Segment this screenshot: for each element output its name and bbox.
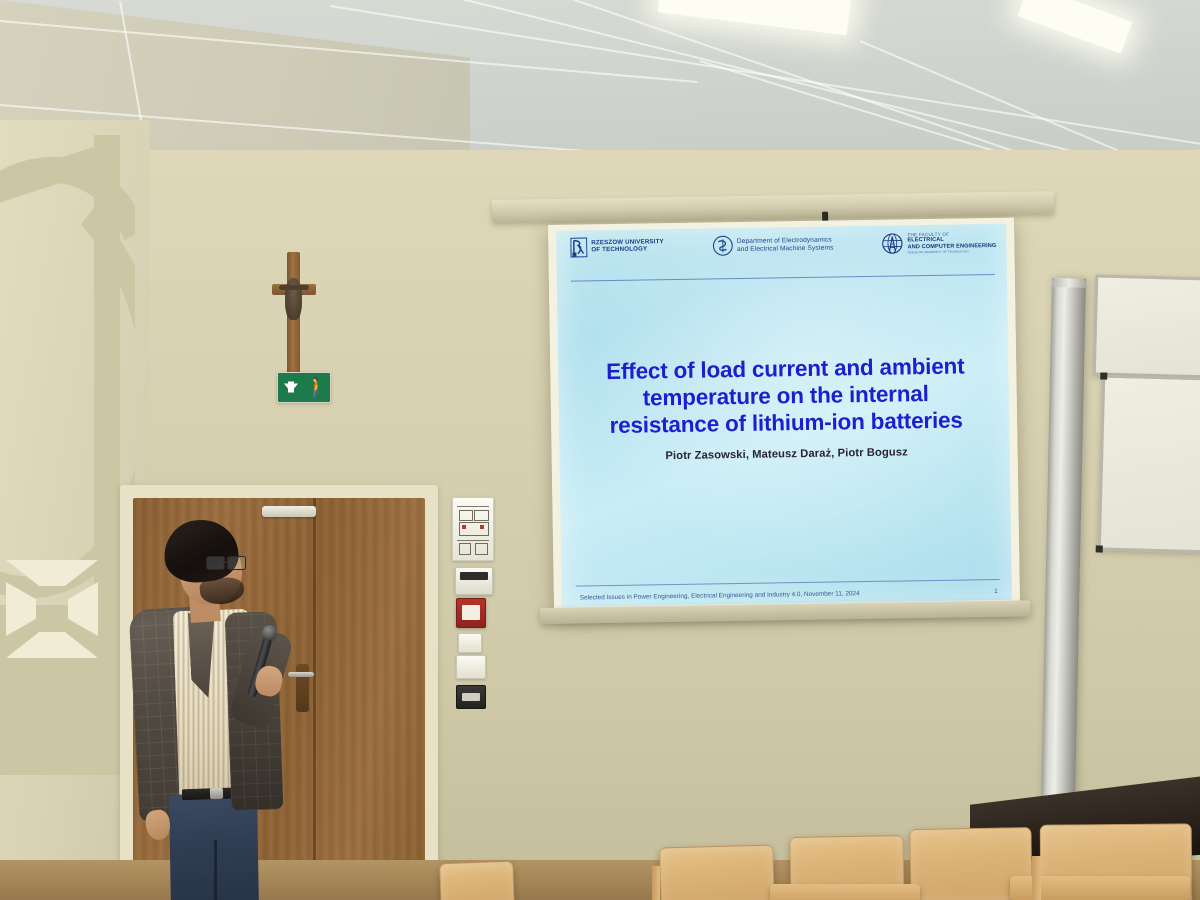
slide-title: Effect of load current and ambient tempe… [584, 352, 987, 439]
eyeglasses [206, 556, 244, 568]
screen-surface: RZESZOW UNIVERSITY OF TECHNOLOGY Departm… [548, 218, 1020, 617]
slide-authors: Piotr Zasowski, Mateusz Daraż, Piotr Bog… [586, 445, 988, 463]
department-logo-line2: and Electrical Machine Systems [737, 244, 834, 253]
lecture-hall-photo: 🚶 [0, 0, 1200, 900]
department-logo-text: Department of Electrodynamics and Electr… [737, 237, 834, 253]
slide-title-line-3: resistance of lithium-ion batteries [585, 406, 987, 439]
whiteboard-upper [1093, 274, 1200, 378]
card-reader-panel[interactable] [456, 685, 486, 709]
exit-runner-panel: 🚶 [304, 373, 330, 402]
fire-alarm-call-point[interactable] [456, 598, 486, 628]
evacuation-plan-placard [452, 497, 494, 561]
emergency-exit-sign: 🚶 [277, 372, 331, 403]
eyeglass-lens-right [227, 556, 246, 570]
whiteboard-bracket [1100, 372, 1107, 379]
ceiling-panel-light [1018, 0, 1133, 54]
jeans-seam [214, 840, 217, 900]
ceiling-panel-light [658, 0, 852, 35]
intercom-panel[interactable] [456, 655, 486, 679]
exit-arrow-panel [278, 373, 304, 402]
chair-post [652, 866, 660, 900]
down-arrow-icon [284, 383, 298, 392]
slide-number: 1 [994, 588, 998, 595]
cross-arm-bottom [6, 632, 98, 658]
light-switch[interactable] [458, 633, 482, 653]
whiteboard-bracket [1096, 545, 1103, 552]
fire-alarm-button[interactable] [462, 605, 480, 620]
door-closer [262, 506, 316, 517]
maltese-cross-icon [6, 560, 98, 658]
rzeszow-university-logo: RZESZOW UNIVERSITY OF TECHNOLOGY [570, 236, 664, 257]
rzeszow-logo-text: RZESZOW UNIVERSITY OF TECHNOLOGY [591, 239, 664, 254]
card-reader-display [462, 693, 480, 701]
presentation-slide: RZESZOW UNIVERSITY OF TECHNOLOGY Departm… [556, 224, 1012, 607]
slide-footer: Selected Issues in Power Engineering, El… [580, 588, 998, 602]
slide-title-block: Effect of load current and ambient tempe… [584, 352, 988, 463]
faculty-globe-icon [881, 232, 903, 254]
slide-footer-rule [576, 579, 1000, 587]
belt-buckle [210, 788, 223, 799]
rzeszow-logo-line2: OF TECHNOLOGY [591, 246, 664, 254]
faculty-logo-text: THE FACULTY OF ELECTRICAL AND COMPUTER E… [907, 231, 996, 254]
auditorium-chair [659, 845, 775, 900]
cross-arm-top [6, 560, 98, 586]
wall-mural [0, 135, 135, 775]
chair-post [1032, 856, 1041, 900]
slide-footer-text: Selected Issues in Power Engineering, El… [580, 590, 860, 601]
cross-arm-right [68, 582, 98, 636]
faculty-logo: THE FACULTY OF ELECTRICAL AND COMPUTER E… [881, 231, 996, 255]
auditorium-chair [439, 861, 515, 900]
whiteboard-lower [1098, 375, 1200, 554]
department-seal-icon [712, 235, 733, 256]
eyeglass-lens-left [206, 556, 225, 570]
chair-seat [770, 884, 920, 900]
department-logo: Department of Electrodynamics and Electr… [712, 234, 834, 257]
faculty-logo-line4: RZESZOW UNIVERSITY OF TECHNOLOGY [908, 250, 997, 255]
projection-screen: RZESZOW UNIVERSITY OF TECHNOLOGY Departm… [548, 218, 1020, 617]
crucifix-figure-arms [279, 285, 309, 290]
wall-control-panel[interactable] [455, 567, 493, 595]
rzeszow-monogram-icon [570, 237, 587, 257]
crucifix [272, 252, 316, 382]
slide-logo-row: RZESZOW UNIVERSITY OF TECHNOLOGY Departm… [570, 231, 997, 278]
control-panel-display [460, 572, 488, 580]
presenter [128, 520, 318, 900]
running-person-icon: 🚶 [305, 378, 329, 397]
cross-arm-left [6, 582, 36, 636]
